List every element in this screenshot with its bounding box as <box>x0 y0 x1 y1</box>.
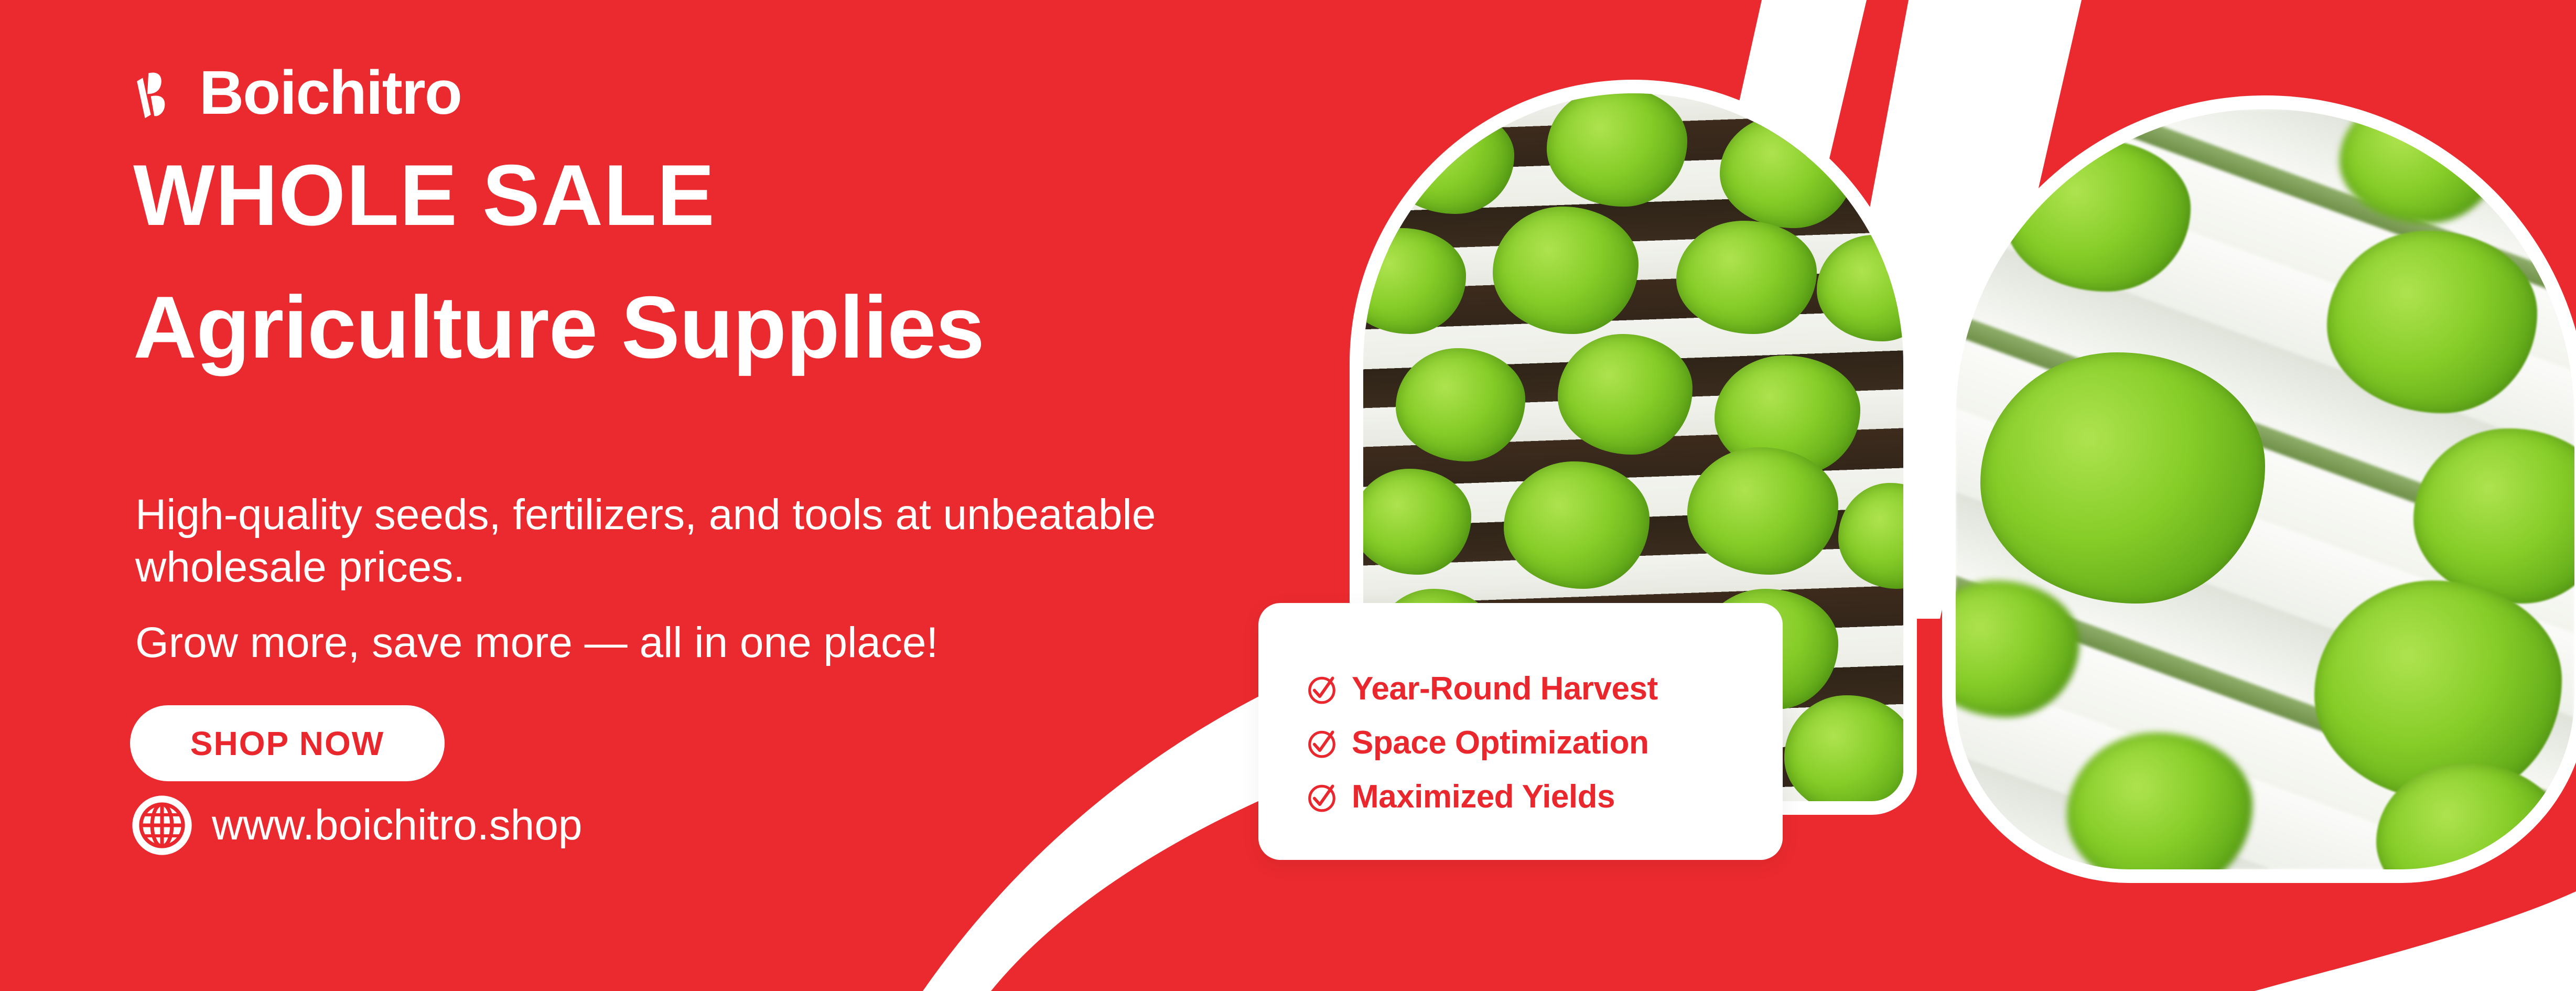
circle-check-icon <box>1306 781 1338 813</box>
website-link[interactable]: www.boichitro.shop <box>131 794 582 856</box>
headline-line-1: WHOLE SALE <box>133 152 715 239</box>
circle-check-icon <box>1306 727 1338 759</box>
feature-item: Maximized Yields <box>1306 778 1658 815</box>
brand-logo[interactable]: Boichitro <box>130 62 461 124</box>
circle-check-icon <box>1306 673 1338 705</box>
headline-line-2: Agriculture Supplies <box>133 283 984 371</box>
features-card: Year-Round Harvest Space Optimization Ma… <box>1258 603 1783 860</box>
website-url: www.boichitro.shop <box>212 801 582 850</box>
feature-item: Space Optimization <box>1306 724 1658 761</box>
shop-now-button[interactable]: SHOP NOW <box>130 705 445 781</box>
feature-label: Space Optimization <box>1352 724 1648 761</box>
brand-name: Boichitro <box>199 62 461 124</box>
promo-banner: Boichitro WHOLE SALE Agriculture Supplie… <box>0 0 2576 991</box>
features-list: Year-Round Harvest Space Optimization Ma… <box>1306 670 1658 815</box>
feature-label: Maximized Yields <box>1352 778 1615 815</box>
boichitro-b-mark-icon <box>130 64 188 122</box>
feature-label: Year-Round Harvest <box>1352 670 1658 707</box>
globe-icon <box>131 794 193 856</box>
feature-item: Year-Round Harvest <box>1306 670 1658 707</box>
butterhead-lettuce-closeup-photo <box>1956 109 2574 869</box>
hero-description: High-quality seeds, fertilizers, and too… <box>135 489 1236 594</box>
hero-tagline: Grow more, save more — all in one place! <box>135 617 938 669</box>
